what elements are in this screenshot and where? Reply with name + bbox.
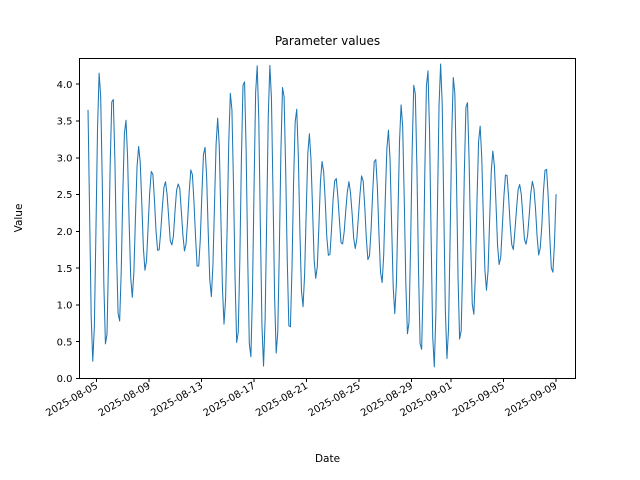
y-tick-label: 1.5 [57,264,73,275]
x-axis-title: Date [315,453,340,465]
y-tick-label: 4.0 [57,80,73,91]
y-tick-label: 1.0 [57,301,73,312]
y-tick-label: 0.0 [57,374,73,385]
matplotlib-figure: Parameter values 0.00.51.01.52.02.53.03.… [0,0,640,480]
y-tick-label: 3.0 [57,153,73,164]
y-tick-label: 3.5 [57,117,73,128]
plot-area-background [79,58,576,378]
y-tick-label: 0.5 [57,337,73,348]
y-tick-label: 2.5 [57,190,73,201]
chart-title: Parameter values [275,34,380,48]
y-tick-label: 2.0 [57,227,73,238]
parameter-values-chart: Parameter values 0.00.51.01.52.02.53.03.… [0,0,640,480]
y-axis-title: Value [13,204,25,233]
